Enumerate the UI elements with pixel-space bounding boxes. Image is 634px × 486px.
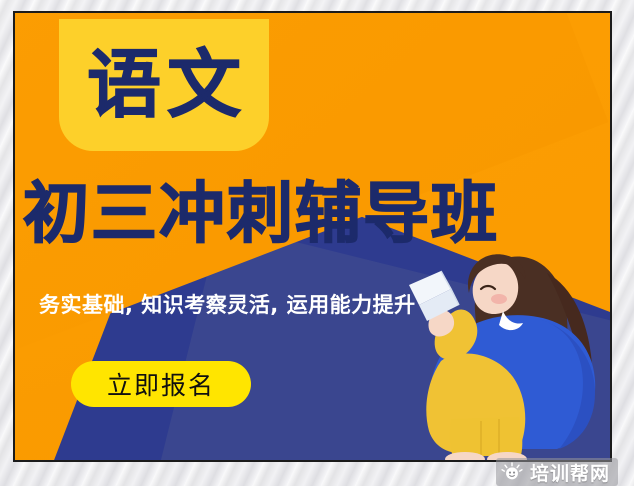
page-title: 初三冲刺辅导班: [23, 181, 603, 247]
subject-badge-label: 语文: [81, 48, 247, 122]
page-background: 语文 初三冲刺辅导班 务实基础, 知识考察灵活, 运用能力提升 立即报名: [0, 0, 634, 486]
watermark-text: 培训帮网: [530, 459, 610, 486]
pants-lower-shape: [450, 417, 523, 457]
watermark: 培训帮网: [496, 458, 618, 486]
poster-subtitle: 务实基础, 知识考察灵活, 运用能力提升: [39, 289, 416, 319]
enroll-now-label: 立即报名: [107, 366, 215, 402]
subject-badge: 语文: [59, 19, 269, 151]
cheek-blush: [491, 294, 507, 304]
enroll-now-button[interactable]: 立即报名: [71, 361, 251, 407]
smiley-sun-icon: [501, 461, 523, 483]
girl-reading-illustration: [407, 249, 612, 462]
course-poster: 语文 初三冲刺辅导班 务实基础, 知识考察灵活, 运用能力提升 立即报名: [13, 11, 612, 462]
